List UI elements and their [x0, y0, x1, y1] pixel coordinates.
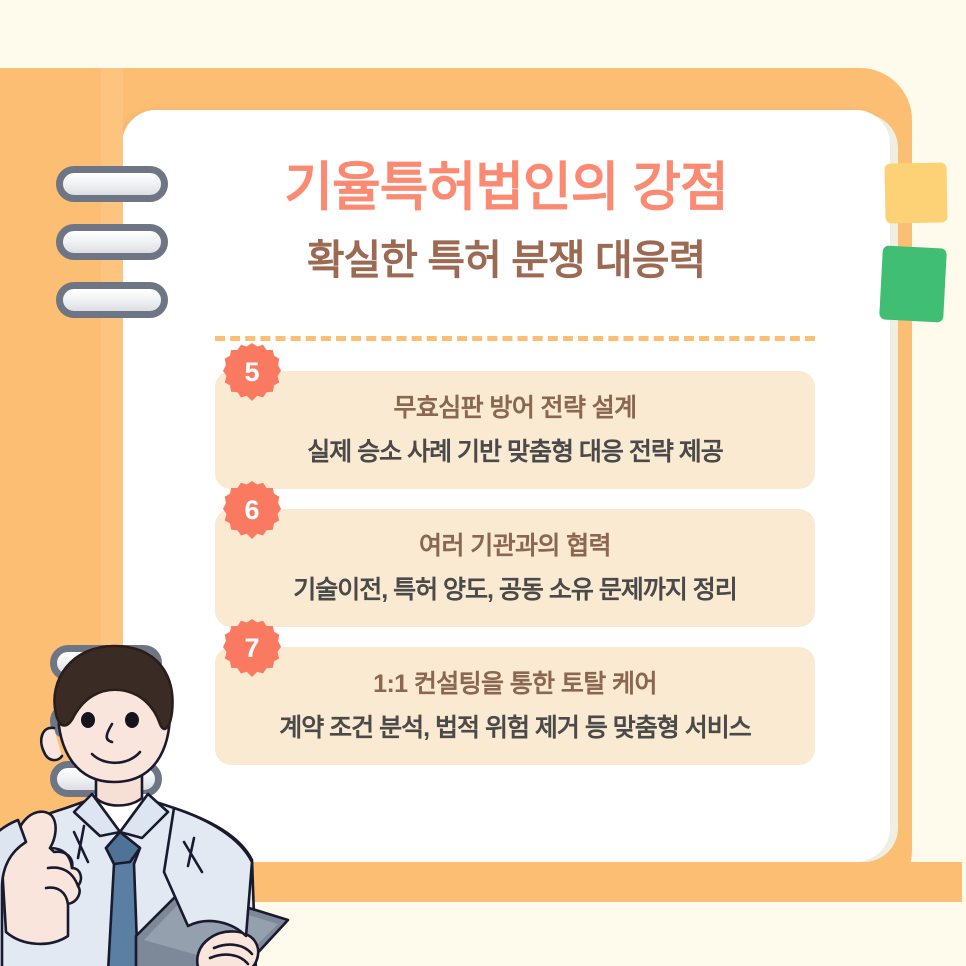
feature-card[interactable]: 6 여러 기관과의 협력 기술이전, 특허 양도, 공동 소유 문제까지 정리 [215, 509, 815, 627]
businessman-illustration [0, 636, 308, 966]
dashed-divider [215, 336, 815, 341]
feature-card[interactable]: 5 무효심판 방어 전략 설계 실제 승소 사례 기반 맞춤형 대응 전략 제공 [215, 371, 815, 489]
spiral-ring [56, 282, 168, 318]
promo-card-canvas: 기율특허법인의 강점 확실한 특허 분쟁 대응력 5 무효심판 방어 전략 설계… [0, 0, 966, 966]
feature-heading: 무효심판 방어 전략 설계 [241, 393, 789, 423]
feature-heading: 여러 기관과의 협력 [241, 531, 789, 561]
page-subtitle: 확실한 특허 분쟁 대응력 [122, 238, 890, 283]
header-block: 기율특허법인의 강점 확실한 특허 분쟁 대응력 [122, 160, 890, 283]
feature-heading: 1:1 컨설팅을 통한 토탈 케어 [241, 669, 789, 699]
yellow-index-tab[interactable] [884, 162, 947, 223]
feature-body: 기술이전, 특허 양도, 공동 소유 문제까지 정리 [241, 575, 789, 605]
feature-body: 실제 승소 사례 기반 맞춤형 대응 전략 제공 [241, 437, 789, 467]
page-title: 기율특허법인의 강점 [122, 160, 890, 216]
feature-body: 계약 조건 분석, 법적 위험 제거 등 맞춤형 서비스 [241, 713, 789, 743]
